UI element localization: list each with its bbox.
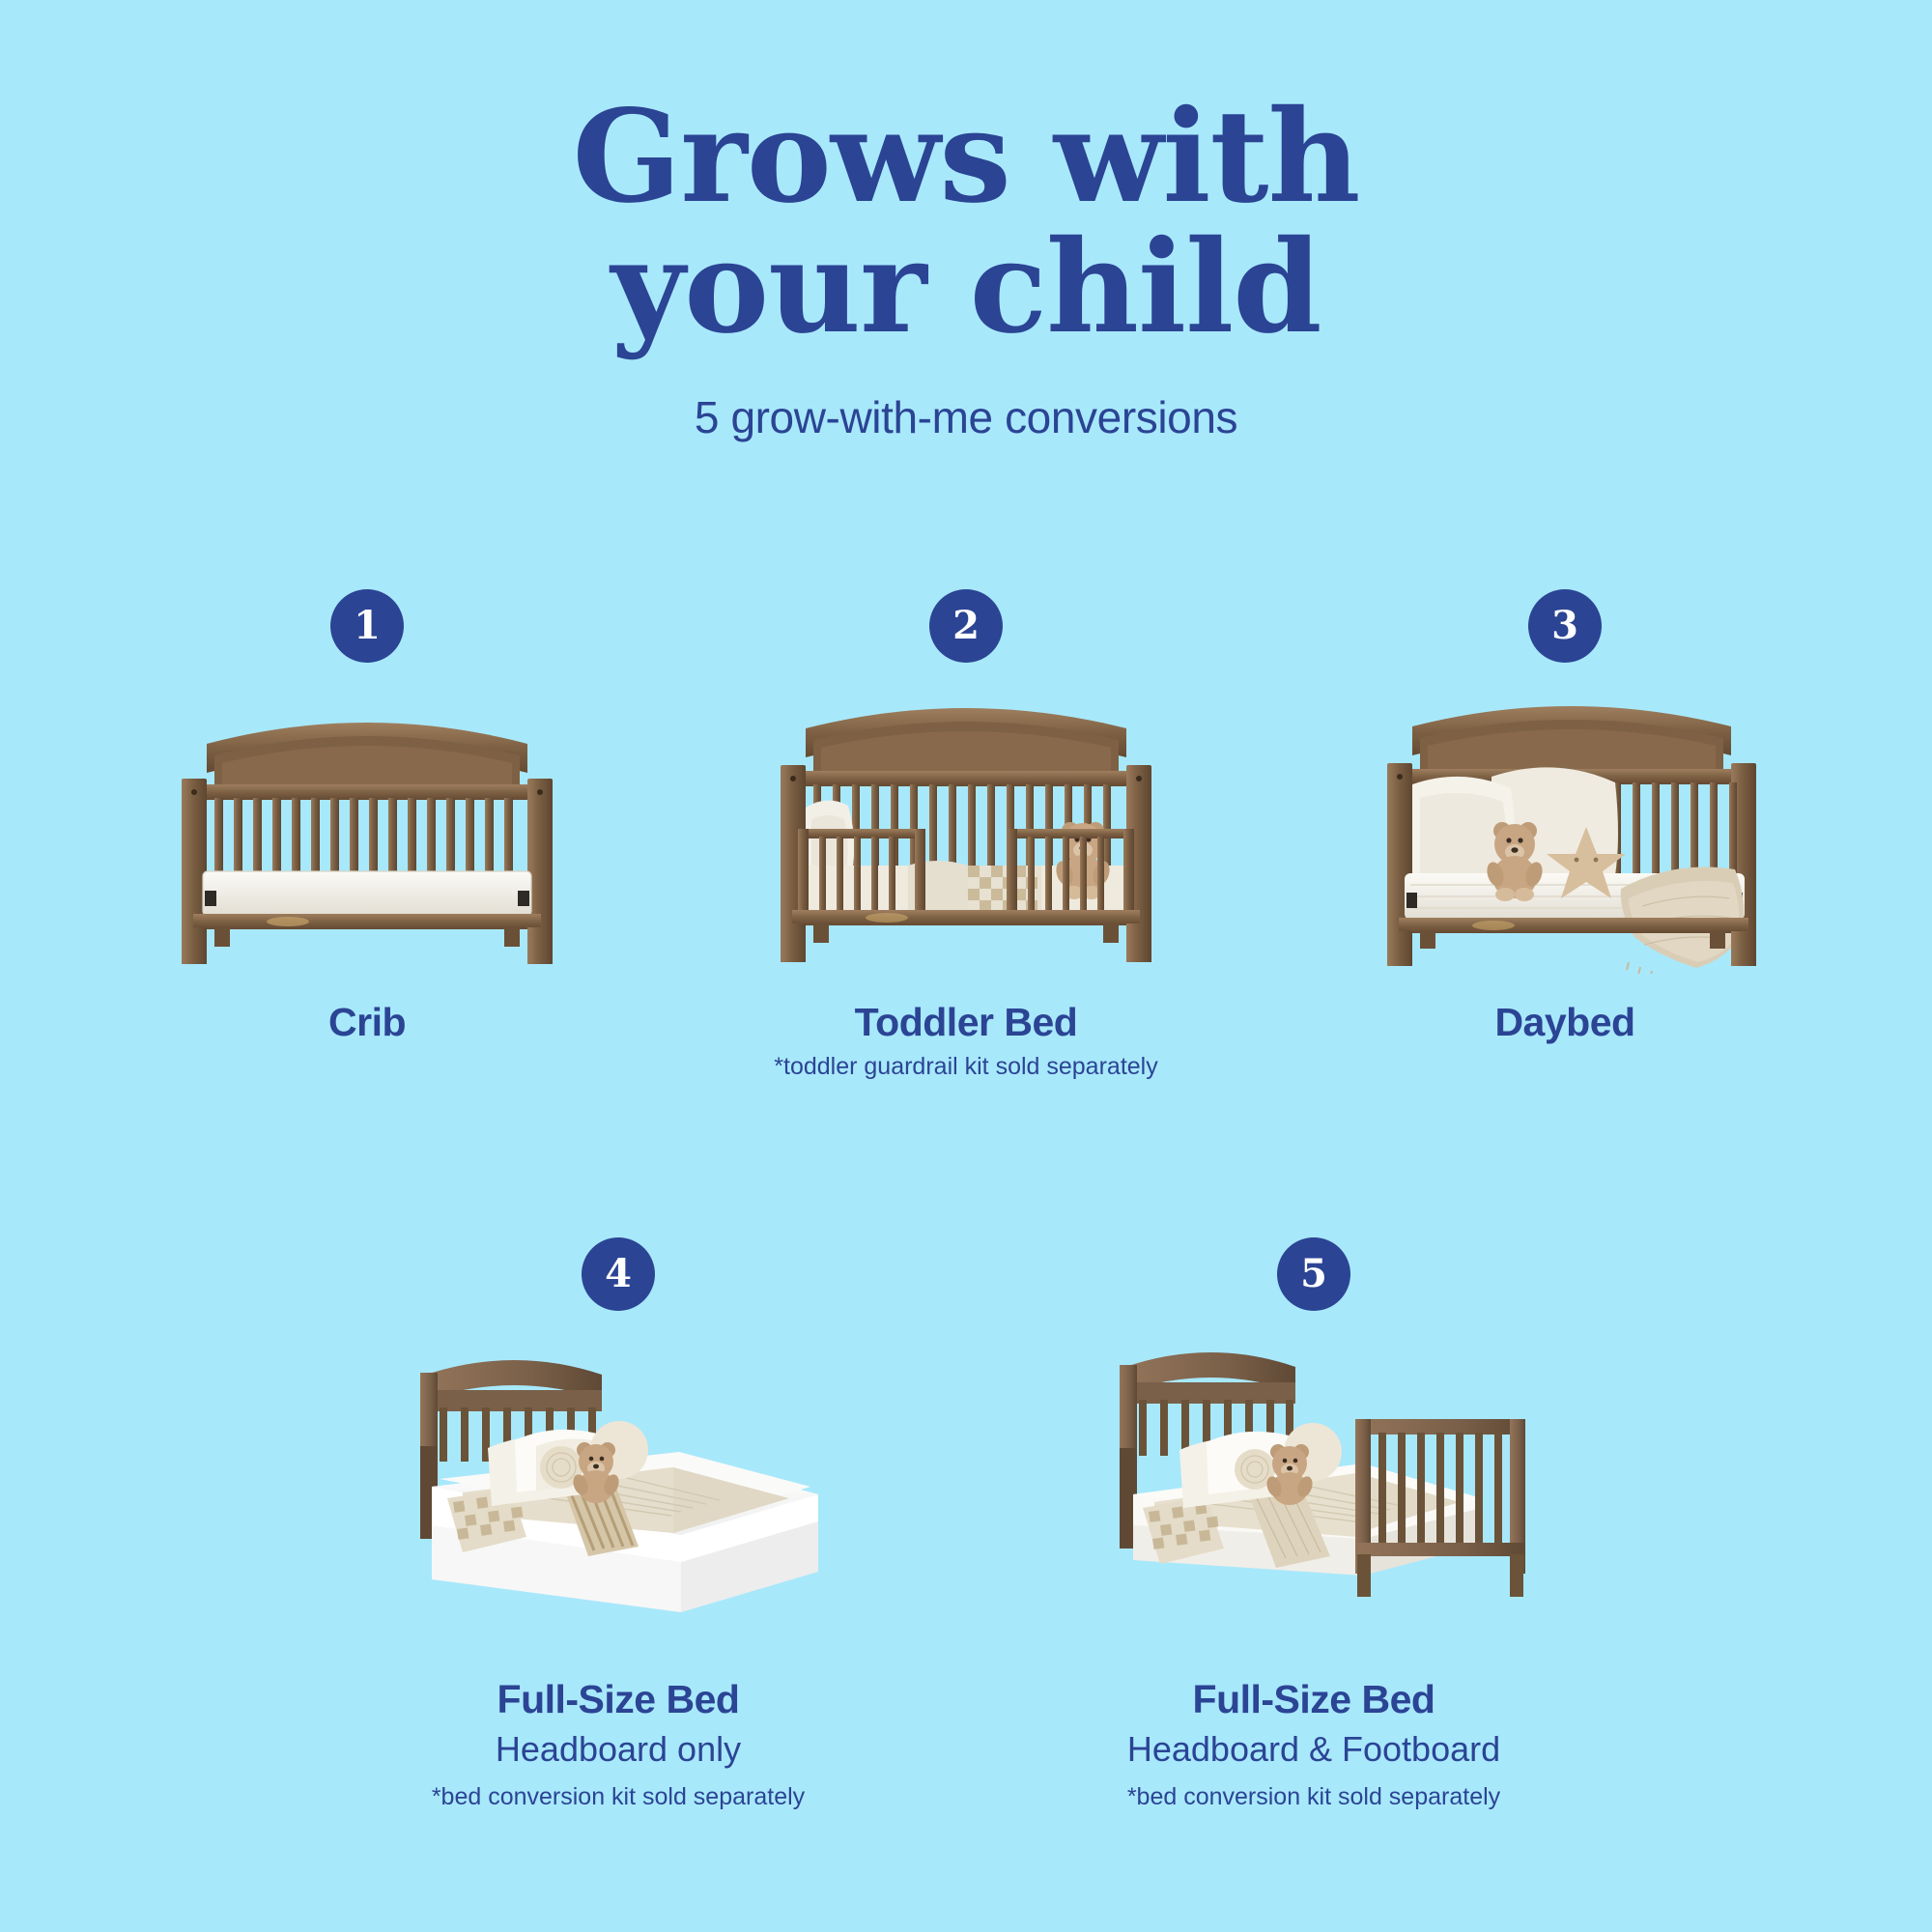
toddler-bed-caption: Toddler Bed *toddler guardrail kit sold …: [696, 1001, 1236, 1081]
conversions-row-top: 1: [0, 589, 1932, 1081]
step-badge-2: 2: [929, 589, 1003, 663]
full-bed-headboard-icon: [391, 1332, 845, 1651]
full-bed-headboard-title: Full-Size Bed: [309, 1678, 927, 1721]
header: Grows with your child 5 grow-with-me con…: [0, 93, 1932, 443]
full-bed-headboard-subtitle: Headboard only: [309, 1727, 927, 1771]
step-badge-1: 1: [330, 589, 404, 663]
full-bed-headboard-caption: Full-Size Bed Headboard only *bed conver…: [309, 1678, 927, 1811]
toddler-bed-title: Toddler Bed: [696, 1001, 1236, 1044]
toddler-bed-illustration: [763, 684, 1169, 974]
conversions-row-bottom: 4: [0, 1237, 1932, 1811]
daybed-illustration: [1362, 684, 1768, 974]
full-bed-headboard-footboard-illustration: [1087, 1332, 1541, 1651]
toddler-bed-icon: [763, 684, 1169, 974]
headline-line-2: your child: [0, 223, 1932, 354]
full-bed-headboard-footboard-caption: Full-Size Bed Headboard & Footboard *bed…: [1005, 1678, 1623, 1811]
full-bed-headboard-note: *bed conversion kit sold separately: [309, 1782, 927, 1811]
conversion-item-full-bed-headboard-footboard: 5: [1005, 1237, 1623, 1811]
step-badge-5: 5: [1277, 1237, 1350, 1311]
step-number: 2: [952, 607, 980, 645]
conversion-item-full-bed-headboard: 4: [309, 1237, 927, 1811]
full-bed-headboard-footboard-icon: [1087, 1332, 1541, 1651]
crib-illustration: [164, 684, 570, 974]
conversion-item-crib: 1: [97, 589, 638, 1081]
conversion-item-toddler-bed: 2: [696, 589, 1236, 1081]
full-bed-headboard-footboard-subtitle: Headboard & Footboard: [1005, 1727, 1623, 1771]
headline-line-1: Grows with: [573, 82, 1360, 232]
crib-caption: Crib: [97, 1001, 638, 1044]
step-number: 4: [605, 1255, 632, 1293]
step-badge-4: 4: [582, 1237, 655, 1311]
conversion-item-daybed: 3: [1294, 589, 1835, 1081]
crib-title: Crib: [97, 1001, 638, 1044]
daybed-icon: [1362, 684, 1768, 974]
crib-icon: [164, 684, 570, 974]
daybed-title: Daybed: [1294, 1001, 1835, 1044]
full-bed-headboard-illustration: [391, 1332, 845, 1651]
step-number: 5: [1300, 1255, 1327, 1293]
full-bed-headboard-footboard-note: *bed conversion kit sold separately: [1005, 1782, 1623, 1811]
daybed-caption: Daybed: [1294, 1001, 1835, 1044]
page-subtitle: 5 grow-with-me conversions: [0, 391, 1932, 443]
step-badge-3: 3: [1528, 589, 1602, 663]
step-number: 1: [354, 607, 381, 645]
step-number: 3: [1551, 607, 1578, 645]
page-title: Grows with your child: [0, 93, 1932, 353]
toddler-bed-note: *toddler guardrail kit sold separately: [696, 1052, 1236, 1081]
full-bed-headboard-footboard-title: Full-Size Bed: [1005, 1678, 1623, 1721]
infographic-page: Grows with your child 5 grow-with-me con…: [0, 0, 1932, 1932]
